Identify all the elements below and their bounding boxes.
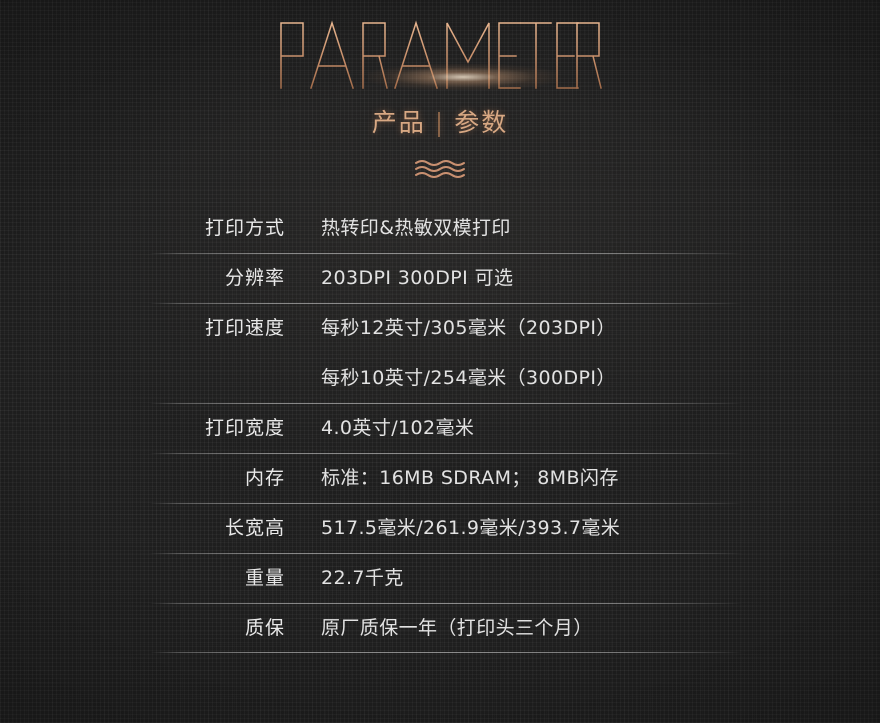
spec-value-line: 517.5毫米/261.9毫米/393.7毫米 xyxy=(321,503,700,553)
table-row: 打印方式 热转印&热敏双模打印 xyxy=(180,203,700,253)
wave-ornament xyxy=(0,158,880,180)
spec-value: 517.5毫米/261.9毫米/393.7毫米 xyxy=(285,503,700,553)
spec-table: 打印方式 热转印&热敏双模打印 分辨率 203DPI 300DPI 可选 打印速… xyxy=(180,203,700,653)
spec-value-line: 每秒10英寸/254毫米（300DPI） xyxy=(321,353,700,403)
spec-value-line: 每秒12英寸/305毫米（203DPI） xyxy=(321,303,700,353)
spec-label: 长宽高 xyxy=(180,503,285,553)
spec-label: 打印宽度 xyxy=(180,403,285,453)
wave-ornament-icon xyxy=(412,158,468,180)
subtitle-divider: | xyxy=(435,108,445,137)
spec-value: 原厂质保一年（打印头三个月） xyxy=(285,603,700,653)
table-row: 分辨率 203DPI 300DPI 可选 xyxy=(180,253,700,303)
spec-label: 质保 xyxy=(180,603,285,653)
spec-value-line: 22.7千克 xyxy=(321,553,700,603)
spec-value: 标准：16MB SDRAM； 8MB闪存 xyxy=(285,453,700,503)
spec-value: 22.7千克 xyxy=(285,553,700,603)
page-subtitle: 产品|参数 xyxy=(0,103,880,139)
subtitle-right: 参数 xyxy=(454,108,508,137)
spec-label: 重量 xyxy=(180,553,285,603)
table-row: 重量 22.7千克 xyxy=(180,553,700,603)
parameter-page: 产品|参数 打印方式 热转印&热敏双模打印 分辨率 203DPI 300DPI … xyxy=(0,0,880,723)
spec-value-line: 标准：16MB SDRAM； 8MB闪存 xyxy=(321,453,700,503)
spec-value: 热转印&热敏双模打印 xyxy=(285,203,700,253)
title-wrap xyxy=(0,16,880,100)
table-row: 打印速度 每秒12英寸/305毫米（203DPI） 每秒10英寸/254毫米（3… xyxy=(180,303,700,403)
spec-value-line: 原厂质保一年（打印头三个月） xyxy=(321,603,700,653)
spec-label: 内存 xyxy=(180,453,285,503)
spec-label: 打印方式 xyxy=(180,203,285,253)
spec-value: 4.0英寸/102毫米 xyxy=(285,403,700,453)
table-row: 打印宽度 4.0英寸/102毫米 xyxy=(180,403,700,453)
table-row: 质保 原厂质保一年（打印头三个月） xyxy=(180,603,700,653)
spec-label: 分辨率 xyxy=(180,253,285,303)
page-title xyxy=(275,16,605,94)
spec-value-line: 203DPI 300DPI 可选 xyxy=(321,253,700,303)
table-row: 内存 标准：16MB SDRAM； 8MB闪存 xyxy=(180,453,700,503)
spec-value: 每秒12英寸/305毫米（203DPI） 每秒10英寸/254毫米（300DPI… xyxy=(285,303,700,403)
spec-value: 203DPI 300DPI 可选 xyxy=(285,253,700,303)
page-header: 产品|参数 xyxy=(0,0,880,180)
spec-label: 打印速度 xyxy=(180,303,285,353)
spec-value-line: 热转印&热敏双模打印 xyxy=(321,203,700,253)
spec-value-line: 4.0英寸/102毫米 xyxy=(321,403,700,453)
table-row: 长宽高 517.5毫米/261.9毫米/393.7毫米 xyxy=(180,503,700,553)
subtitle-left: 产品 xyxy=(372,108,426,137)
